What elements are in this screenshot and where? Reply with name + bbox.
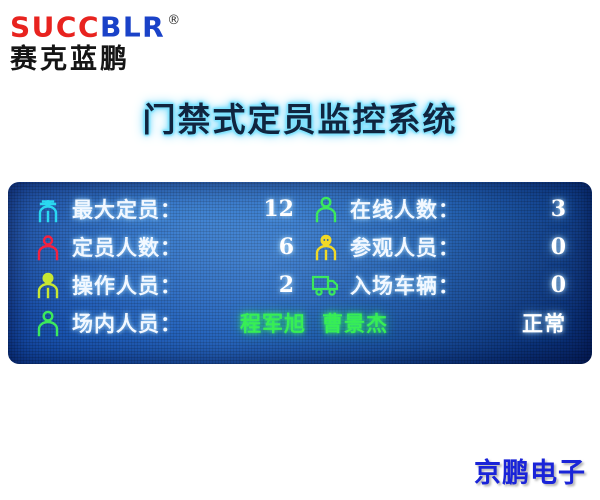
- led-onsite-name-1: 程军旭: [240, 312, 306, 336]
- page-title: 门禁式定员监控系统: [0, 93, 600, 141]
- led-label-onsite-personnel: 场内人员：: [66, 308, 182, 338]
- led-value-vehicles: 0: [551, 272, 580, 298]
- led-row-online-count: 在线人数： 3: [308, 190, 580, 228]
- person-yellowgreen-icon: [30, 271, 66, 299]
- led-value-visitors: 0: [551, 234, 580, 260]
- led-onsite-name-list: 程军旭曹景杰: [240, 308, 388, 338]
- led-row-max-capacity: 最大定员： 12: [30, 190, 308, 228]
- person-yellow-icon: [308, 233, 344, 261]
- led-panel-content: 最大定员： 12 定员人数： 6: [8, 182, 592, 364]
- logo-word-succ: SUCC: [10, 10, 100, 43]
- led-row-onsite-personnel: 场内人员： 程军旭曹景杰 正常: [30, 304, 580, 342]
- led-label-online-count: 在线人数：: [344, 194, 460, 224]
- led-row-vehicles: 入场车辆： 0: [308, 266, 580, 304]
- led-label-assigned-count: 定员人数：: [66, 232, 182, 262]
- led-value-assigned-count: 6: [279, 234, 308, 260]
- led-value-operators: 2: [279, 272, 308, 298]
- logo-wordmark: SUCCBLR®: [10, 8, 210, 42]
- led-label-visitors: 参观人员：: [344, 232, 460, 262]
- company-logo: SUCCBLR® 赛克蓝鹏: [10, 8, 210, 78]
- led-label-operators: 操作人员：: [66, 270, 182, 300]
- registered-trademark-icon: ®: [167, 13, 182, 28]
- led-row-operators: 操作人员： 2: [30, 266, 308, 304]
- led-display-panel: 最大定员： 12 定员人数： 6: [8, 182, 592, 364]
- led-label-max-capacity: 最大定员：: [66, 194, 182, 224]
- footer-brand: 京鹏电子: [474, 451, 586, 490]
- led-row-visitors: 参观人员： 0: [308, 228, 580, 266]
- logo-chinese-name: 赛克蓝鹏: [10, 43, 210, 77]
- led-value-online-count: 3: [551, 196, 580, 222]
- person-green-icon: [30, 309, 66, 337]
- truck-green-icon: [308, 273, 344, 297]
- person-red-icon: [30, 233, 66, 261]
- person-cyan-icon: [30, 195, 66, 223]
- person-green-icon: [308, 195, 344, 223]
- led-value-max-capacity: 12: [263, 196, 308, 222]
- led-label-vehicles: 入场车辆：: [344, 270, 460, 300]
- led-onsite-name-2: 曹景杰: [322, 312, 388, 336]
- status-badge: 正常: [522, 308, 580, 338]
- led-row-assigned-count: 定员人数： 6: [30, 228, 308, 266]
- logo-word-blr: BLR: [100, 10, 165, 43]
